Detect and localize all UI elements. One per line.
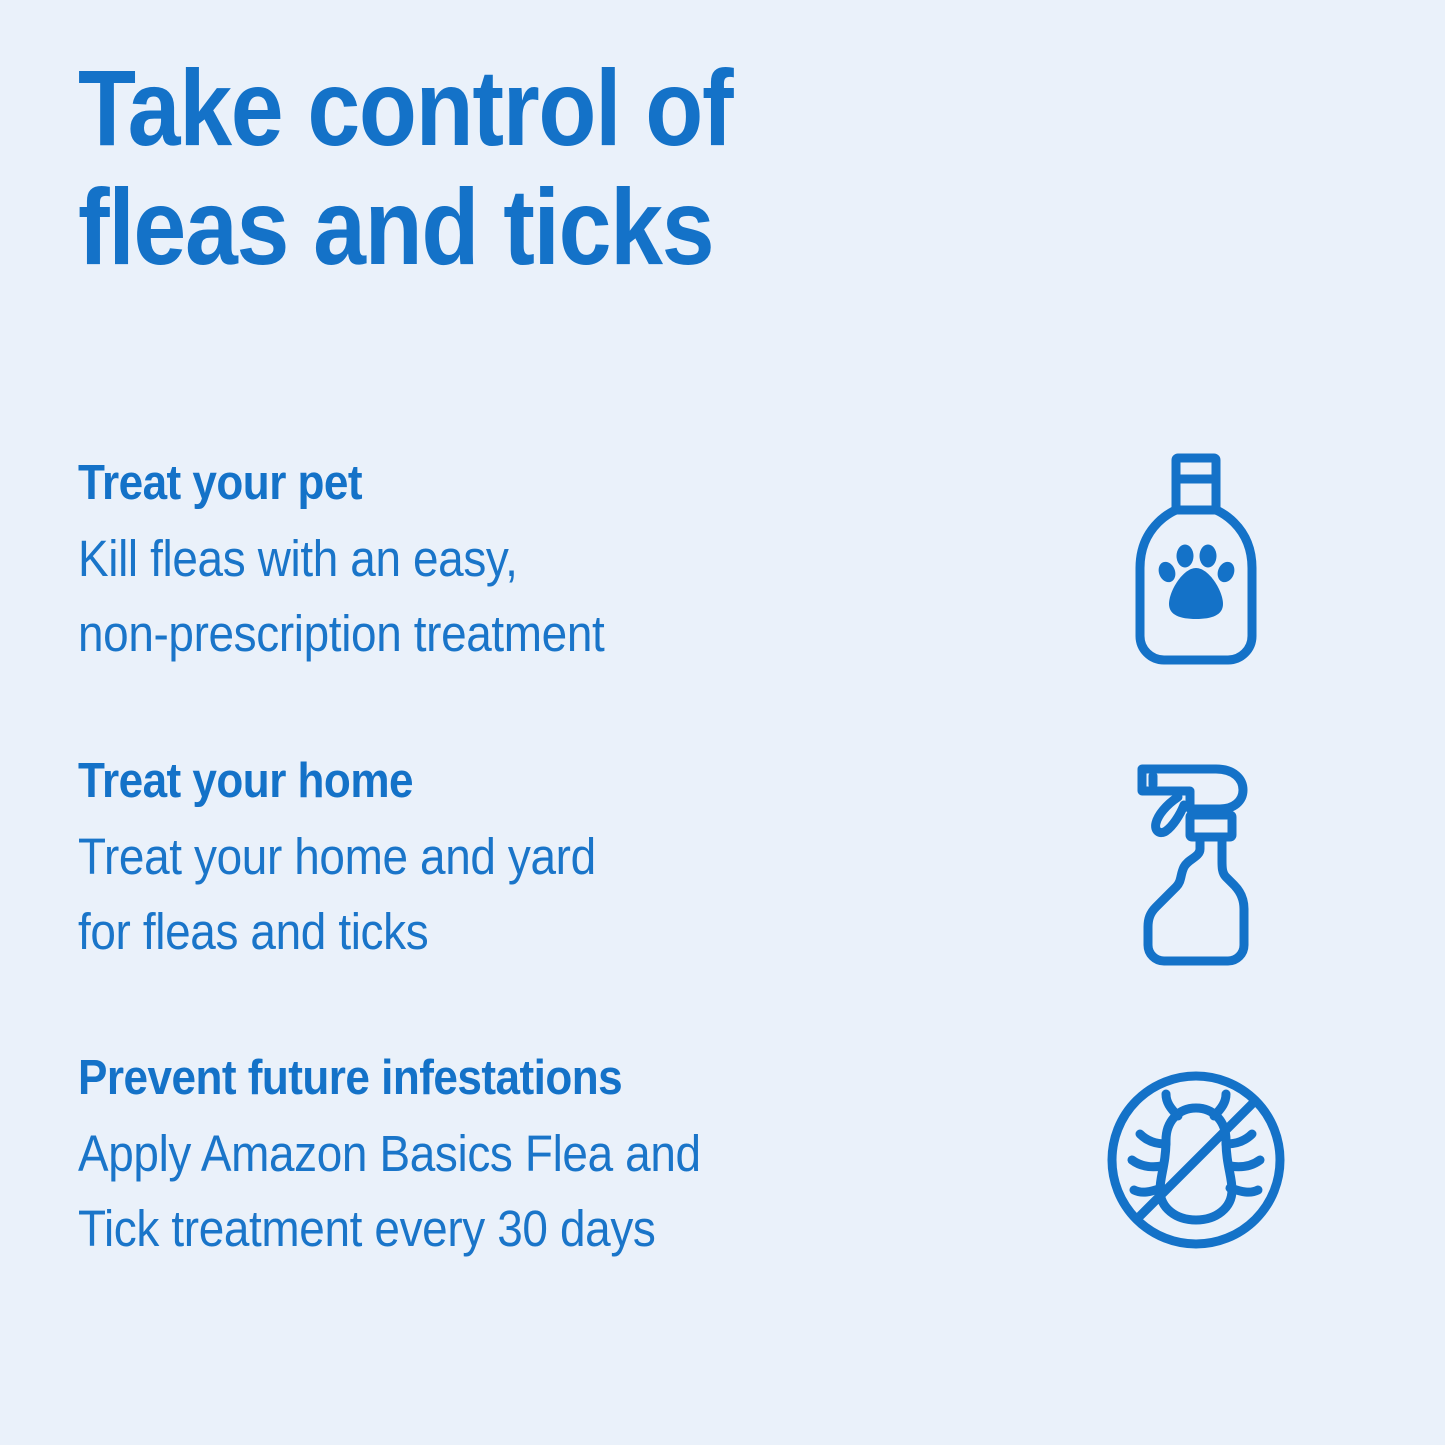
feature-block-treat-your-home: Treat your home Treat your home and yard… [78,753,1078,969]
feature-body: Kill fleas with an easy, non-prescriptio… [78,521,978,671]
feature-block-prevent-future-infestations: Prevent future infestations Apply Amazon… [78,1050,1078,1266]
feature-heading: Treat your home [78,753,978,809]
page-title: Take control of fleas and ticks [78,48,870,286]
feature-body-line-1: Kill fleas with an easy, [78,521,978,596]
feature-body-line-2: non-prescription treatment [78,596,978,671]
feature-body: Treat your home and yard for fleas and t… [78,819,978,969]
page-title-line-1: Take control of [78,48,870,167]
feature-body-line-1: Apply Amazon Basics Flea and [78,1116,978,1191]
feature-block-treat-your-pet: Treat your pet Kill fleas with an easy, … [78,455,1078,671]
feature-body: Apply Amazon Basics Flea and Tick treatm… [78,1116,978,1266]
feature-body-line-1: Treat your home and yard [78,819,978,894]
feature-heading: Treat your pet [78,455,978,511]
spray-bottle-icon [1093,755,1298,970]
promo-banner: Take control of fleas and ticks Treat yo… [0,0,1445,1445]
page-title-line-2: fleas and ticks [78,167,870,286]
feature-heading: Prevent future infestations [78,1050,978,1106]
feature-body-line-2: Tick treatment every 30 days [78,1191,978,1266]
pet-shampoo-bottle-icon [1093,452,1298,667]
no-tick-icon [1093,1062,1298,1257]
feature-body-line-2: for fleas and ticks [78,894,978,969]
